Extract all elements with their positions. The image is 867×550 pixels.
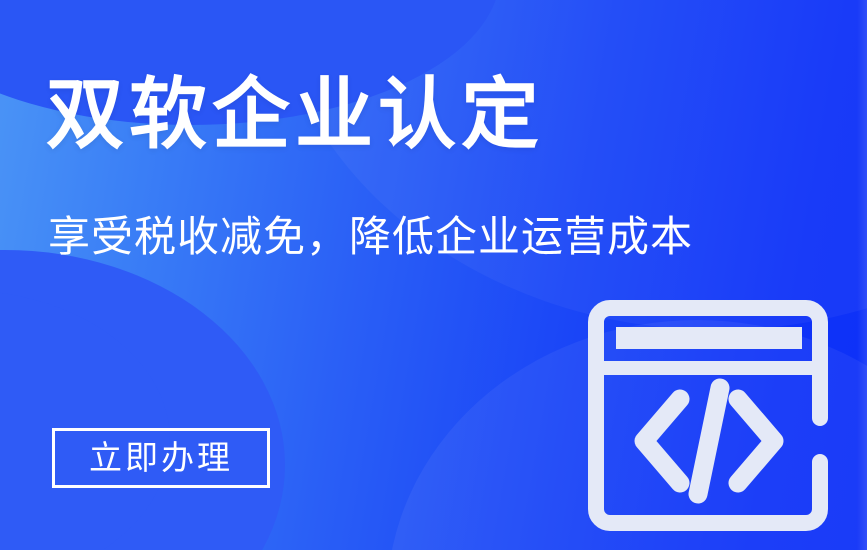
decor-right-edge-rim xyxy=(857,0,867,550)
banner-title: 双软企业认定 xyxy=(46,74,544,156)
code-window-icon xyxy=(588,300,830,532)
promo-banner: 双软企业认定 享受税收减免，降低企业运营成本 立即办理 xyxy=(0,0,867,550)
apply-now-button[interactable]: 立即办理 xyxy=(52,428,270,488)
banner-subtitle: 享受税收减免，降低企业运营成本 xyxy=(48,212,693,262)
